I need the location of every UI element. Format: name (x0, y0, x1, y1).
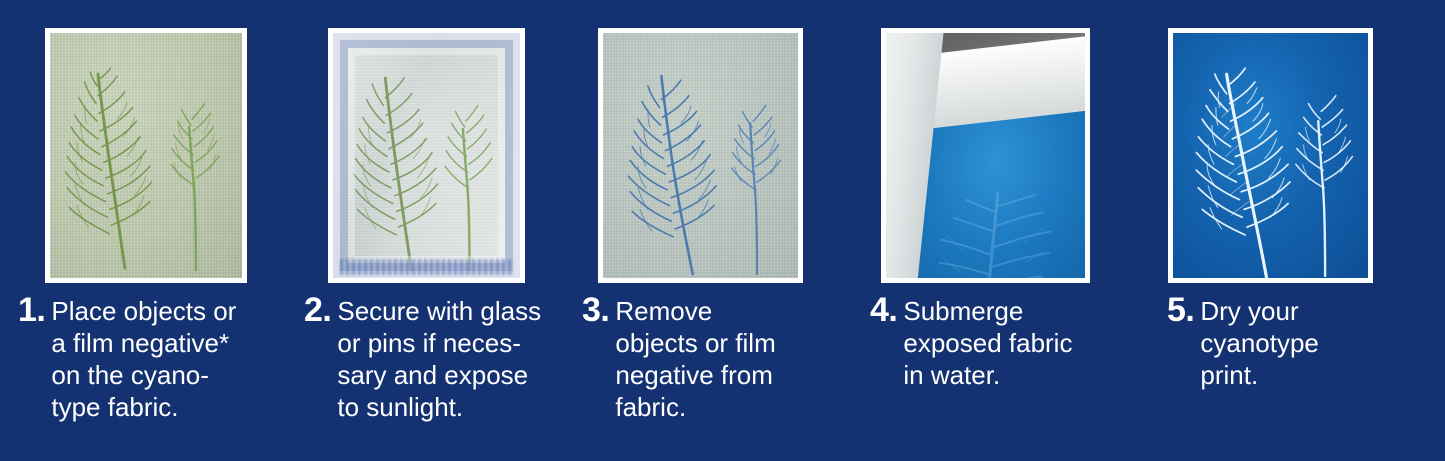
step-3-photo (603, 33, 798, 278)
step-2-number: 2. (304, 292, 337, 328)
step-2-photo-frame (328, 28, 525, 283)
step-5-text: Dry your cyanotype print. (1200, 292, 1380, 391)
step-1-caption: 1. Place objects or a film negative* on … (18, 292, 266, 423)
step-4-photo-frame (881, 28, 1090, 283)
step-5-photo-frame (1168, 28, 1373, 283)
step-3-caption: 3. Remove objects or film negative from … (582, 292, 815, 423)
step-3: 3. Remove objects or film negative from … (582, 0, 870, 461)
step-5-photo (1173, 33, 1368, 278)
step-3-photo-frame (598, 28, 803, 283)
step-4-number: 4. (870, 292, 903, 328)
step-2-caption: 2. Secure with glass or pins if neces- s… (304, 292, 559, 423)
step-5: 5. Dry your cyanotype print. (1155, 0, 1445, 461)
step-4-photo (886, 33, 1085, 278)
step-1-number: 1. (18, 292, 51, 328)
step-1: 1. Place objects or a film negative* on … (0, 0, 300, 461)
steps-row: 1. Place objects or a film negative* on … (0, 0, 1445, 461)
green-fern-illustration (50, 33, 242, 278)
step-1-photo-frame (45, 28, 247, 283)
step-4-text: Submerge exposed fabric in water. (903, 292, 1108, 391)
step-1-text: Place objects or a film negative* on the… (51, 292, 266, 423)
step-5-caption: 5. Dry your cyanotype print. (1167, 292, 1380, 391)
step-3-number: 3. (582, 292, 615, 328)
step-2-photo (333, 33, 520, 278)
step-4-caption: 4. Submerge exposed fabric in water. (870, 292, 1108, 391)
finished-cyanotype-fern (1173, 33, 1368, 278)
cyanotype-instruction-poster: 1. Place objects or a film negative* on … (0, 0, 1445, 461)
step-2: 2. Secure with glass or pins if neces- s… (300, 0, 582, 461)
blue-fern-print-illustration (603, 33, 798, 278)
step-1-photo (50, 33, 242, 278)
glass-sheet-edge (333, 33, 520, 278)
step-5-number: 5. (1167, 292, 1200, 328)
step-3-text: Remove objects or film negative from fab… (615, 292, 815, 423)
step-2-text: Secure with glass or pins if neces- sary… (337, 292, 559, 423)
step-4: 4. Submerge exposed fabric in water. (870, 0, 1155, 461)
